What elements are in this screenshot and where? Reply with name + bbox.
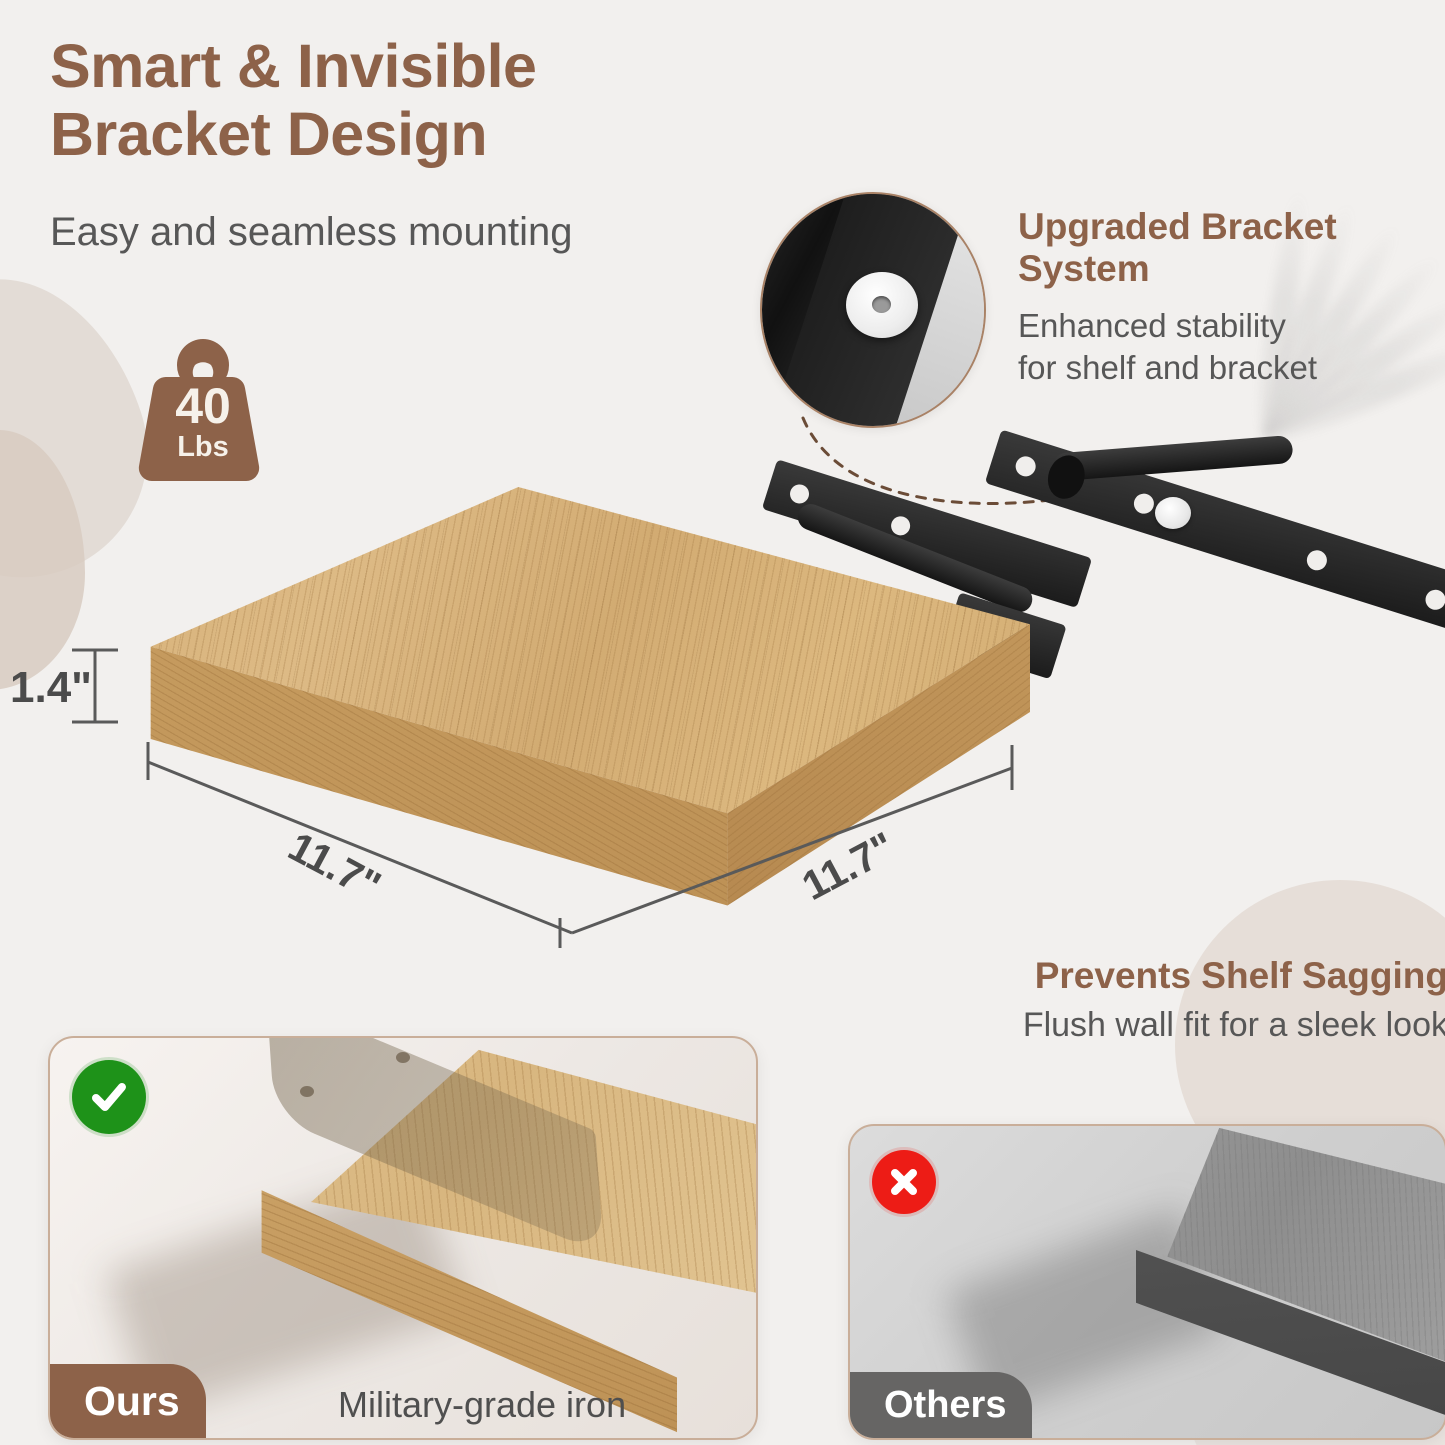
ours-caption: Military-grade iron [338,1384,626,1426]
bracket-screw-hole-2-icon [396,1052,410,1063]
ours-wood-block [150,1046,758,1436]
comparison-panel-others: Others [848,1124,1445,1440]
ours-tag: Ours [50,1364,206,1438]
dimension-thickness-label: 1.4" [10,663,92,713]
sagging-subtitle: Flush wall fit for a sleek look [848,1006,1445,1045]
infographic-canvas: Smart & Invisible Bracket Design Easy an… [0,0,1445,1445]
green-check-icon [72,1060,146,1134]
others-tag: Others [850,1372,1032,1438]
sagging-title: Prevents Shelf Sagging [868,955,1445,997]
comparison-panel-ours: Ours Military-grade iron [48,1036,758,1440]
red-x-icon [872,1150,936,1214]
bracket-screw-hole-1-icon [300,1086,314,1097]
others-grey-block [980,1124,1445,1440]
